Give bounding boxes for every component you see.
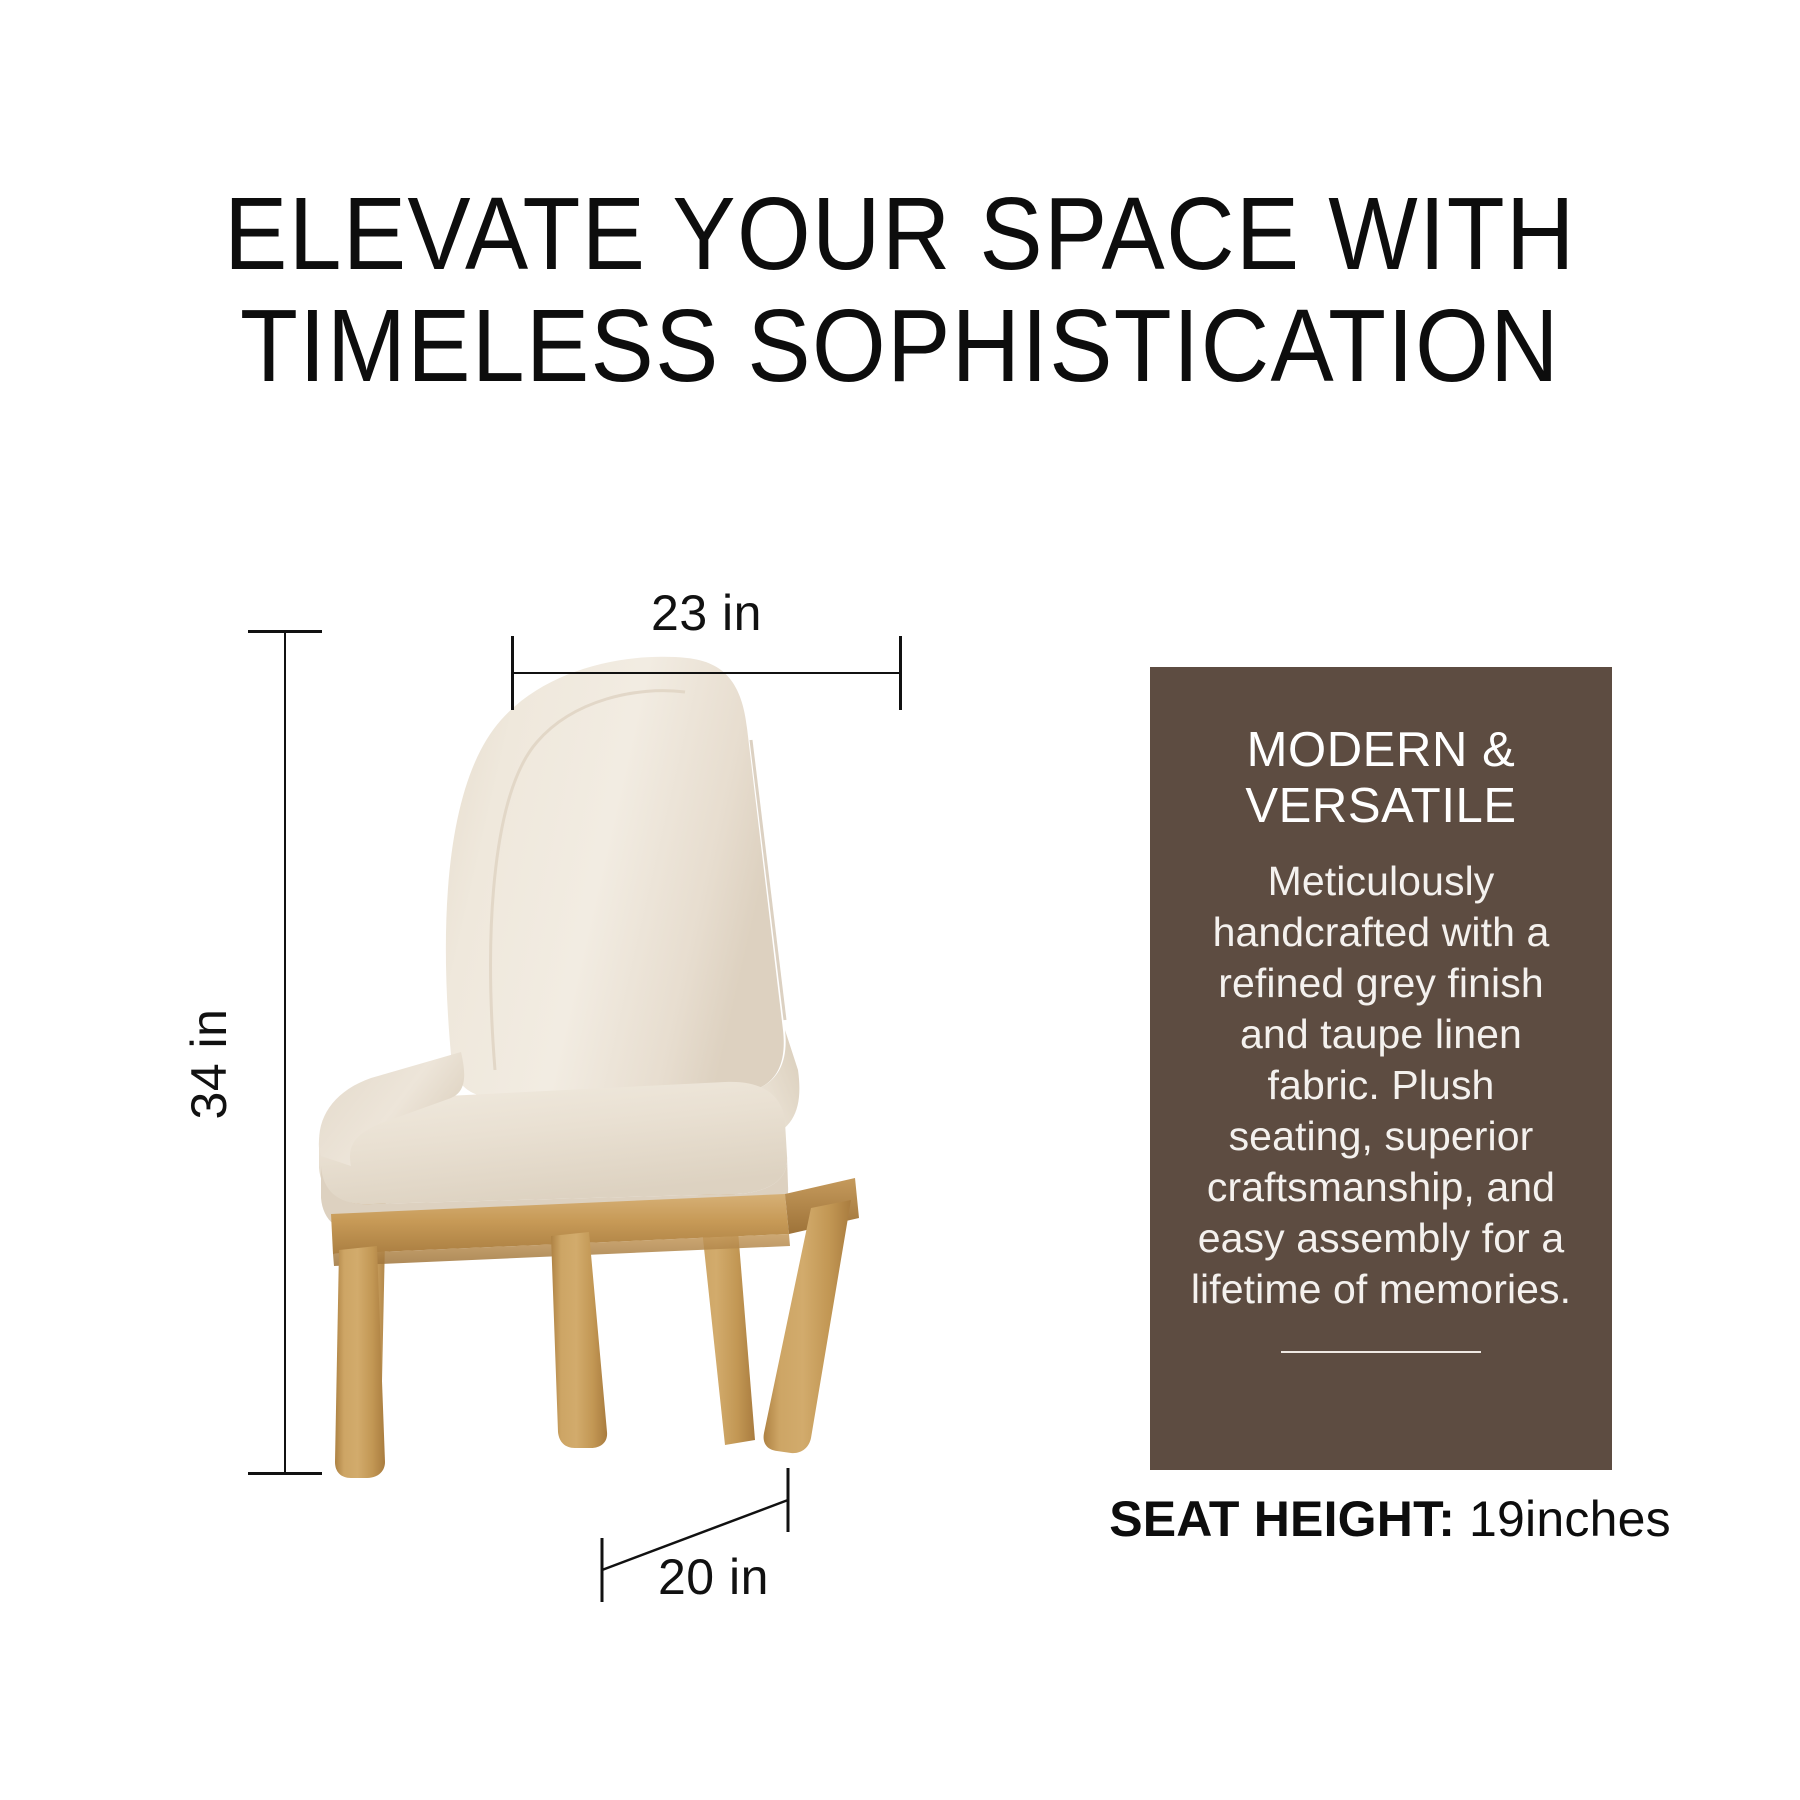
dimension-depth: 20 in — [598, 1480, 868, 1610]
dimension-height-line — [284, 630, 286, 1475]
feature-title-line-1: MODERN & — [1190, 722, 1572, 778]
seat-height-row: SEAT HEIGHT: 19inches — [1060, 1490, 1720, 1548]
dimension-height-label: 34 in — [180, 964, 238, 1164]
dimension-width-line — [511, 672, 902, 674]
dimension-width-label: 23 in — [511, 584, 902, 642]
headline-line-1: ELEVATE YOUR SPACE WITH — [72, 178, 1728, 290]
seat-height-value: 19inches — [1469, 1491, 1671, 1547]
seat-height-label: SEAT HEIGHT: — [1109, 1491, 1455, 1547]
product-dimension-area: 23 in 34 in 20 in — [0, 540, 1060, 1640]
feature-panel-divider — [1281, 1351, 1481, 1353]
feature-panel-title: MODERN & VERSATILE — [1190, 722, 1572, 834]
headline-line-2: TIMELESS SOPHISTICATION — [72, 290, 1728, 402]
infographic-canvas: ELEVATE YOUR SPACE WITH TIMELESS SOPHIST… — [0, 0, 1800, 1800]
dimension-depth-label: 20 in — [658, 1548, 769, 1606]
feature-panel-body: Meticulously handcrafted with a refined … — [1190, 856, 1572, 1315]
feature-panel: MODERN & VERSATILE Meticulously handcraf… — [1150, 667, 1612, 1470]
product-image-chair — [255, 600, 875, 1490]
dimension-width: 23 in — [511, 672, 902, 674]
page-title: ELEVATE YOUR SPACE WITH TIMELESS SOPHIST… — [72, 178, 1728, 402]
feature-title-line-2: VERSATILE — [1190, 778, 1572, 834]
dimension-height: 34 in — [284, 630, 286, 1475]
